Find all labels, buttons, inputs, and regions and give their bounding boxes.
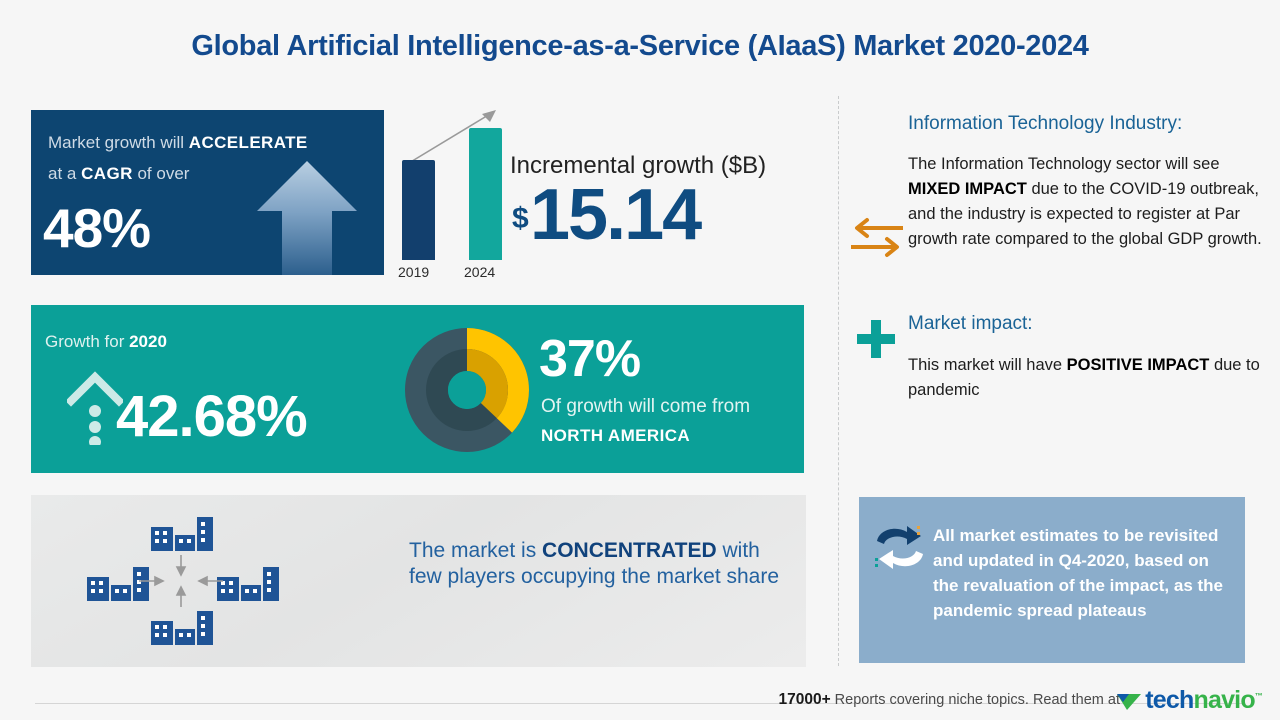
block2-body-part1: This market will have xyxy=(908,356,1067,374)
vertical-divider xyxy=(838,96,839,666)
impact-block1-body: The Information Technology sector will s… xyxy=(908,152,1273,252)
technavio-mark-icon xyxy=(1116,690,1142,712)
technavio-logo[interactable]: technavio™ xyxy=(1116,686,1262,715)
cagr-line-1: Market growth will ACCELERATE xyxy=(48,133,308,153)
market-concentration-panel: The market is CONCENTRATED with few play… xyxy=(31,495,806,667)
chevron-up-dots-icon xyxy=(67,367,123,445)
concentration-text: The market is CONCENTRATED with few play… xyxy=(409,538,779,590)
logo-navio-part: navio xyxy=(1194,686,1255,714)
block1-body-emphasis: MIXED IMPACT xyxy=(908,180,1027,198)
buildings-converging-icon xyxy=(83,515,283,647)
growth-heading-year: 2020 xyxy=(129,332,167,351)
footer-report-count: 17000+ xyxy=(779,691,831,708)
impact-block1-heading: Information Technology Industry: xyxy=(908,113,1182,135)
trademark-symbol: ™ xyxy=(1255,692,1262,701)
growth-2020-panel: Growth for 2020 42.68% 37% Of growth wil… xyxy=(31,305,804,473)
donut-region-label: NORTH AMERICA xyxy=(541,426,690,446)
cagr-value: 48% xyxy=(43,196,150,260)
block2-body-emphasis: POSITIVE IMPACT xyxy=(1067,356,1210,374)
cagr-line2-prefix: at a xyxy=(48,164,81,183)
technavio-wordmark: technavio™ xyxy=(1145,686,1262,715)
plus-icon xyxy=(855,318,897,360)
infographic-page: Global Artificial Intelligence-as-a-Serv… xyxy=(0,0,1280,720)
conc-text-emphasis: CONCENTRATED xyxy=(542,539,717,562)
revisit-estimates-panel: All market estimates to be revisited and… xyxy=(859,497,1245,663)
impact-block2-body: This market will have POSITIVE IMPACT du… xyxy=(908,353,1273,403)
north-america-donut-chart xyxy=(405,328,529,452)
donut-percentage: 37% xyxy=(539,329,640,389)
page-title: Global Artificial Intelligence-as-a-Serv… xyxy=(0,30,1280,63)
cagr-panel: Market growth will ACCELERATE at a CAGR … xyxy=(31,110,384,275)
revisit-text: All market estimates to be revisited and… xyxy=(933,523,1233,623)
logo-tech-part: tech xyxy=(1145,686,1193,714)
cagr-line2-emphasis: CAGR xyxy=(81,164,133,183)
incremental-growth-chart: 2019 2024 Incremental growth ($B) $ 15.1… xyxy=(392,104,822,284)
donut-subtitle: Of growth will come from xyxy=(541,396,750,418)
bar-2019 xyxy=(402,160,435,260)
bar-2024 xyxy=(469,128,502,260)
growth-value: 42.68% xyxy=(116,383,307,450)
growth-heading-prefix: Growth for xyxy=(45,332,129,351)
incremental-value: 15.14 xyxy=(530,174,700,256)
bar-label-2019: 2019 xyxy=(398,264,429,280)
bar-label-2024: 2024 xyxy=(464,264,495,280)
cagr-line2-suffix: of over xyxy=(133,164,190,183)
cagr-line1-prefix: Market growth will xyxy=(48,133,189,152)
block1-body-part1: The Information Technology sector will s… xyxy=(908,155,1220,173)
impact-block2-heading: Market impact: xyxy=(908,313,1033,335)
growth-heading: Growth for 2020 xyxy=(45,332,167,352)
two-way-arrows-icon xyxy=(851,215,903,259)
footer-text: 17000+ Reports covering niche topics. Re… xyxy=(779,691,1121,709)
cagr-line1-emphasis: ACCELERATE xyxy=(189,133,308,152)
conc-text-prefix: The market is xyxy=(409,539,542,562)
impact-vertical-label-wrap: IMPACT xyxy=(860,115,886,195)
footer-caption: Reports covering niche topics. Read them… xyxy=(831,692,1120,708)
up-arrow-icon xyxy=(252,155,362,275)
refresh-cycle-icon xyxy=(873,524,927,570)
cagr-line-2: at a CAGR of over xyxy=(48,164,189,184)
currency-symbol: $ xyxy=(512,202,529,236)
